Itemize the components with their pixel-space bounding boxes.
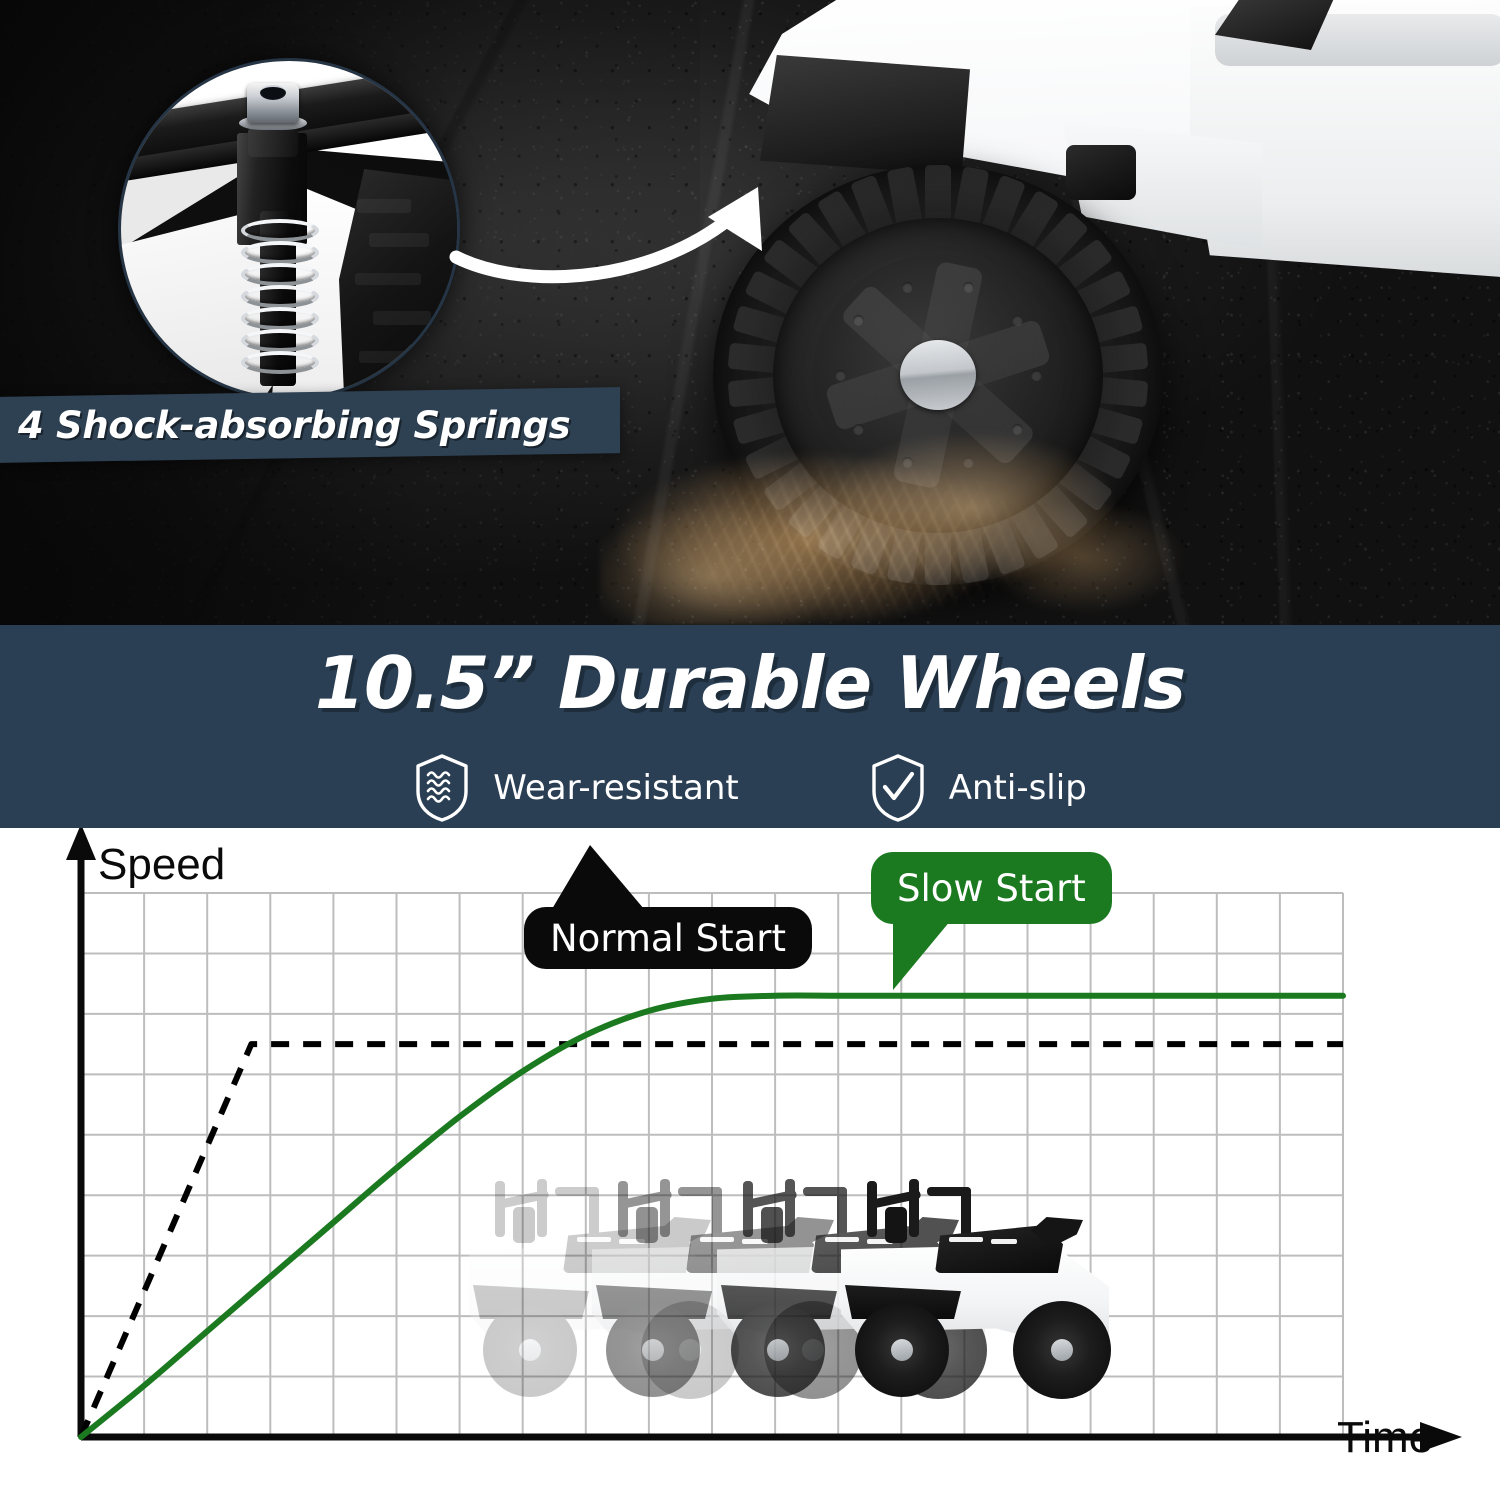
car-acceleration-sequence [455,1173,1065,1428]
spring-coil [241,307,319,330]
shock-absorbing-spring-icon [241,219,319,379]
spring-coil [241,285,319,308]
dust-streaks [640,430,1160,620]
spring-coil [241,351,319,374]
x-axis-label: Time [1337,1413,1433,1463]
wheel-photo-section: 4 Shock-absorbing Springs [0,0,1500,625]
shield-waves-icon [413,753,471,823]
spring-caption-ribbon: 4 Shock-absorbing Springs [0,387,620,463]
slow-start-callout-tail [893,920,951,990]
spring-caption-text: 4 Shock-absorbing Springs [18,404,570,447]
inset-nut-bore [260,85,286,100]
rim-lug-dot [1031,370,1042,381]
rim-lug-dot [902,282,913,293]
spring-closeup-inset [118,58,460,400]
spring-coil [241,329,319,352]
curved-arrow-icon [440,165,840,295]
rim-lug-dot [835,370,846,381]
banner-title: 10.5” Durable Wheels [0,641,1500,725]
feature-label-wear-resistant: Wear-resistant [493,768,739,808]
car-axle-housing [1066,145,1136,200]
banner-feature-list: Wear-resistant Anti-slip [0,753,1500,823]
normal-start-callout-text: Normal Start [550,917,786,960]
ride-on-car-final-frame [827,1173,1147,1423]
wheel-hub-cap [900,340,976,410]
feature-anti-slip: Anti-slip [869,753,1087,823]
spring-coil [241,219,319,242]
slow-start-callout-text: Slow Start [897,867,1086,910]
durable-wheels-banner: 10.5” Durable Wheels Wear-resistant [0,625,1500,828]
product-infographic-page: 4 Shock-absorbing Springs 10.5” Durable … [0,0,1500,1488]
car-underbody [760,55,970,175]
normal-start-callout: Normal Start [524,907,812,969]
slow-start-callout: Slow Start [871,852,1112,924]
spring-coil [241,241,319,264]
shield-check-icon [869,753,927,823]
normal-start-callout-tail [552,845,644,909]
y-axis-label: Speed [98,840,225,890]
spring-coil [241,263,319,286]
inset-shock-collar [248,127,298,157]
feature-wear-resistant: Wear-resistant [413,753,739,823]
speed-vs-time-chart: Speed Time Slow Start Normal Start [0,828,1500,1488]
feature-label-anti-slip: Anti-slip [949,768,1087,808]
rim-lug-dot [963,282,974,293]
